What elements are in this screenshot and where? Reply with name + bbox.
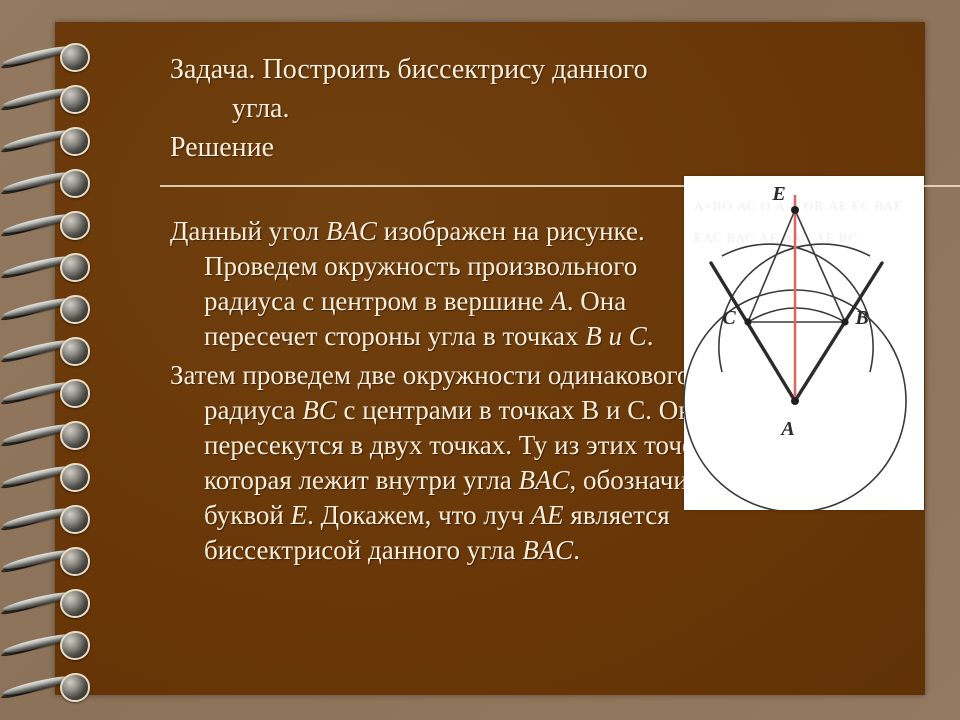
arc-bc [748, 308, 845, 322]
p2-t4: . Докажем, что луч [307, 500, 531, 530]
heading-line-solution: Решение [170, 130, 745, 167]
p2-i1: BC [302, 395, 337, 425]
segment-be [795, 210, 845, 322]
heading-line-task-cont: угла. [170, 91, 745, 128]
heading-block: Задача. Построить биссектрису данного уг… [170, 52, 745, 167]
figure-drawing: A B C E [684, 176, 924, 510]
point-b-dot [841, 318, 848, 325]
p1-i3: B и C [585, 321, 647, 351]
label-b: B [854, 307, 868, 329]
p2-i2: BAC [519, 465, 570, 495]
point-c-dot [744, 318, 751, 325]
p1-t1: Данный угол [170, 216, 326, 246]
p2-i5: BAC [522, 535, 573, 565]
notebook-page: Задача. Построить биссектрису данного уг… [55, 22, 925, 695]
p2-i4: AE [531, 500, 564, 530]
p1-i1: BAC [326, 216, 377, 246]
p1-i2: A [550, 286, 567, 316]
p2-i3: E [291, 500, 308, 530]
body-text: Данный угол BAC изображен на рисунке. Пр… [170, 214, 732, 572]
label-e: E [771, 183, 785, 205]
point-a-dot [791, 397, 799, 405]
ray-ab [795, 263, 882, 401]
segment-ce [748, 210, 795, 322]
ray-ac [711, 263, 795, 401]
heading-line-task: Задача. Построить биссектрису данного [170, 52, 745, 89]
point-e-dot [791, 206, 799, 214]
p2-t6: . [573, 535, 580, 565]
paragraph-1: Данный угол BAC изображен на рисунке. Пр… [170, 214, 732, 354]
paragraph-2: Затем проведем две окружности одинаковог… [170, 358, 732, 568]
geometry-figure: А=ВО АС О А С ОВ АЕ ЕС ВАЕ ЕАС ВАС АЕ ВА… [684, 176, 924, 510]
label-c: C [722, 307, 736, 329]
p1-t4: . [647, 321, 654, 351]
label-a: A [779, 418, 794, 440]
slide: Задача. Построить биссектрису данного уг… [0, 0, 960, 720]
